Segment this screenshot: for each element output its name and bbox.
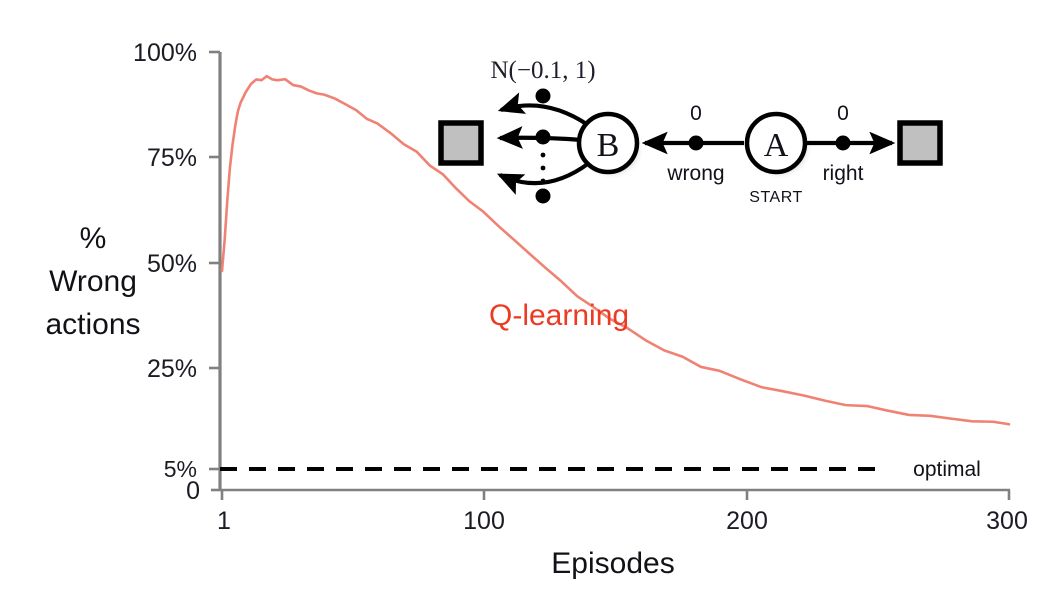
edge-a-to-terminal-right: 0 right <box>807 102 892 185</box>
edge-a-to-terminal-dot <box>836 136 851 151</box>
state-node-a: A START <box>747 114 813 206</box>
edge-a-to-b-wrong: 0 wrong <box>645 102 744 185</box>
terminal-state-left <box>441 123 481 163</box>
state-node-b: B <box>579 114 645 180</box>
state-node-b-label: B <box>597 127 620 164</box>
figure-root: 100% 75% 50% 25% 5% 0 1 100 200 300 Epis… <box>0 0 1059 592</box>
edge-a-to-b-dot <box>689 136 704 151</box>
edge-a-to-b-reward: 0 <box>690 102 702 125</box>
state-node-a-label: A <box>764 127 789 164</box>
state-node-a-sublabel: START <box>749 189 802 206</box>
edge-a-to-terminal-action: right <box>823 162 864 185</box>
edge-a-to-b-action: wrong <box>666 162 724 185</box>
terminal-state-right <box>900 123 940 163</box>
mdp-diagram-svg: N(−0.1, 1) B 0 wrong A START 0 right <box>0 0 1059 592</box>
vertical-ellipsis-icon <box>541 153 546 184</box>
reward-distribution-label: N(−0.1, 1) <box>490 57 595 84</box>
edge-a-to-terminal-reward: 0 <box>837 102 849 125</box>
